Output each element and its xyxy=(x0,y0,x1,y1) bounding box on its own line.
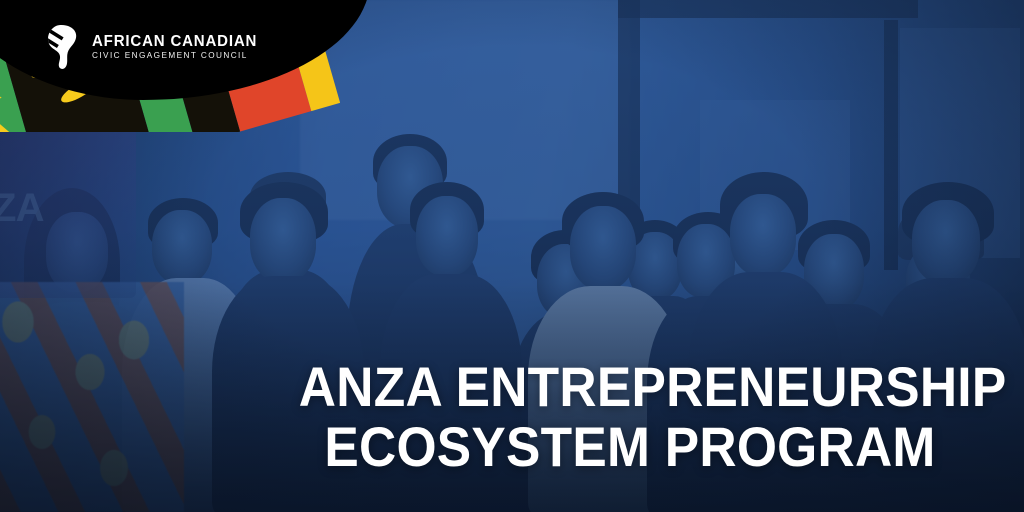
africa-continent-icon xyxy=(46,24,80,70)
logo-title: AFRICAN CANADIAN xyxy=(92,34,257,50)
hero-banner: ZA xyxy=(0,0,1024,512)
organization-logo[interactable]: AFRICAN CANADIAN CIVIC ENGAGEMENT COUNCI… xyxy=(46,24,262,70)
program-title: ANZA ENTREPRENEURSHIP ECOSYSTEM PROGRAM xyxy=(270,357,990,476)
logo-subtitle: CIVIC ENGAGEMENT COUNCIL xyxy=(92,52,262,60)
program-title-line-2: ECOSYSTEM PROGRAM xyxy=(299,417,961,476)
logo-wordmark: AFRICAN CANADIAN CIVIC ENGAGEMENT COUNCI… xyxy=(92,34,262,61)
program-title-line-1: ANZA ENTREPRENEURSHIP xyxy=(299,357,961,416)
